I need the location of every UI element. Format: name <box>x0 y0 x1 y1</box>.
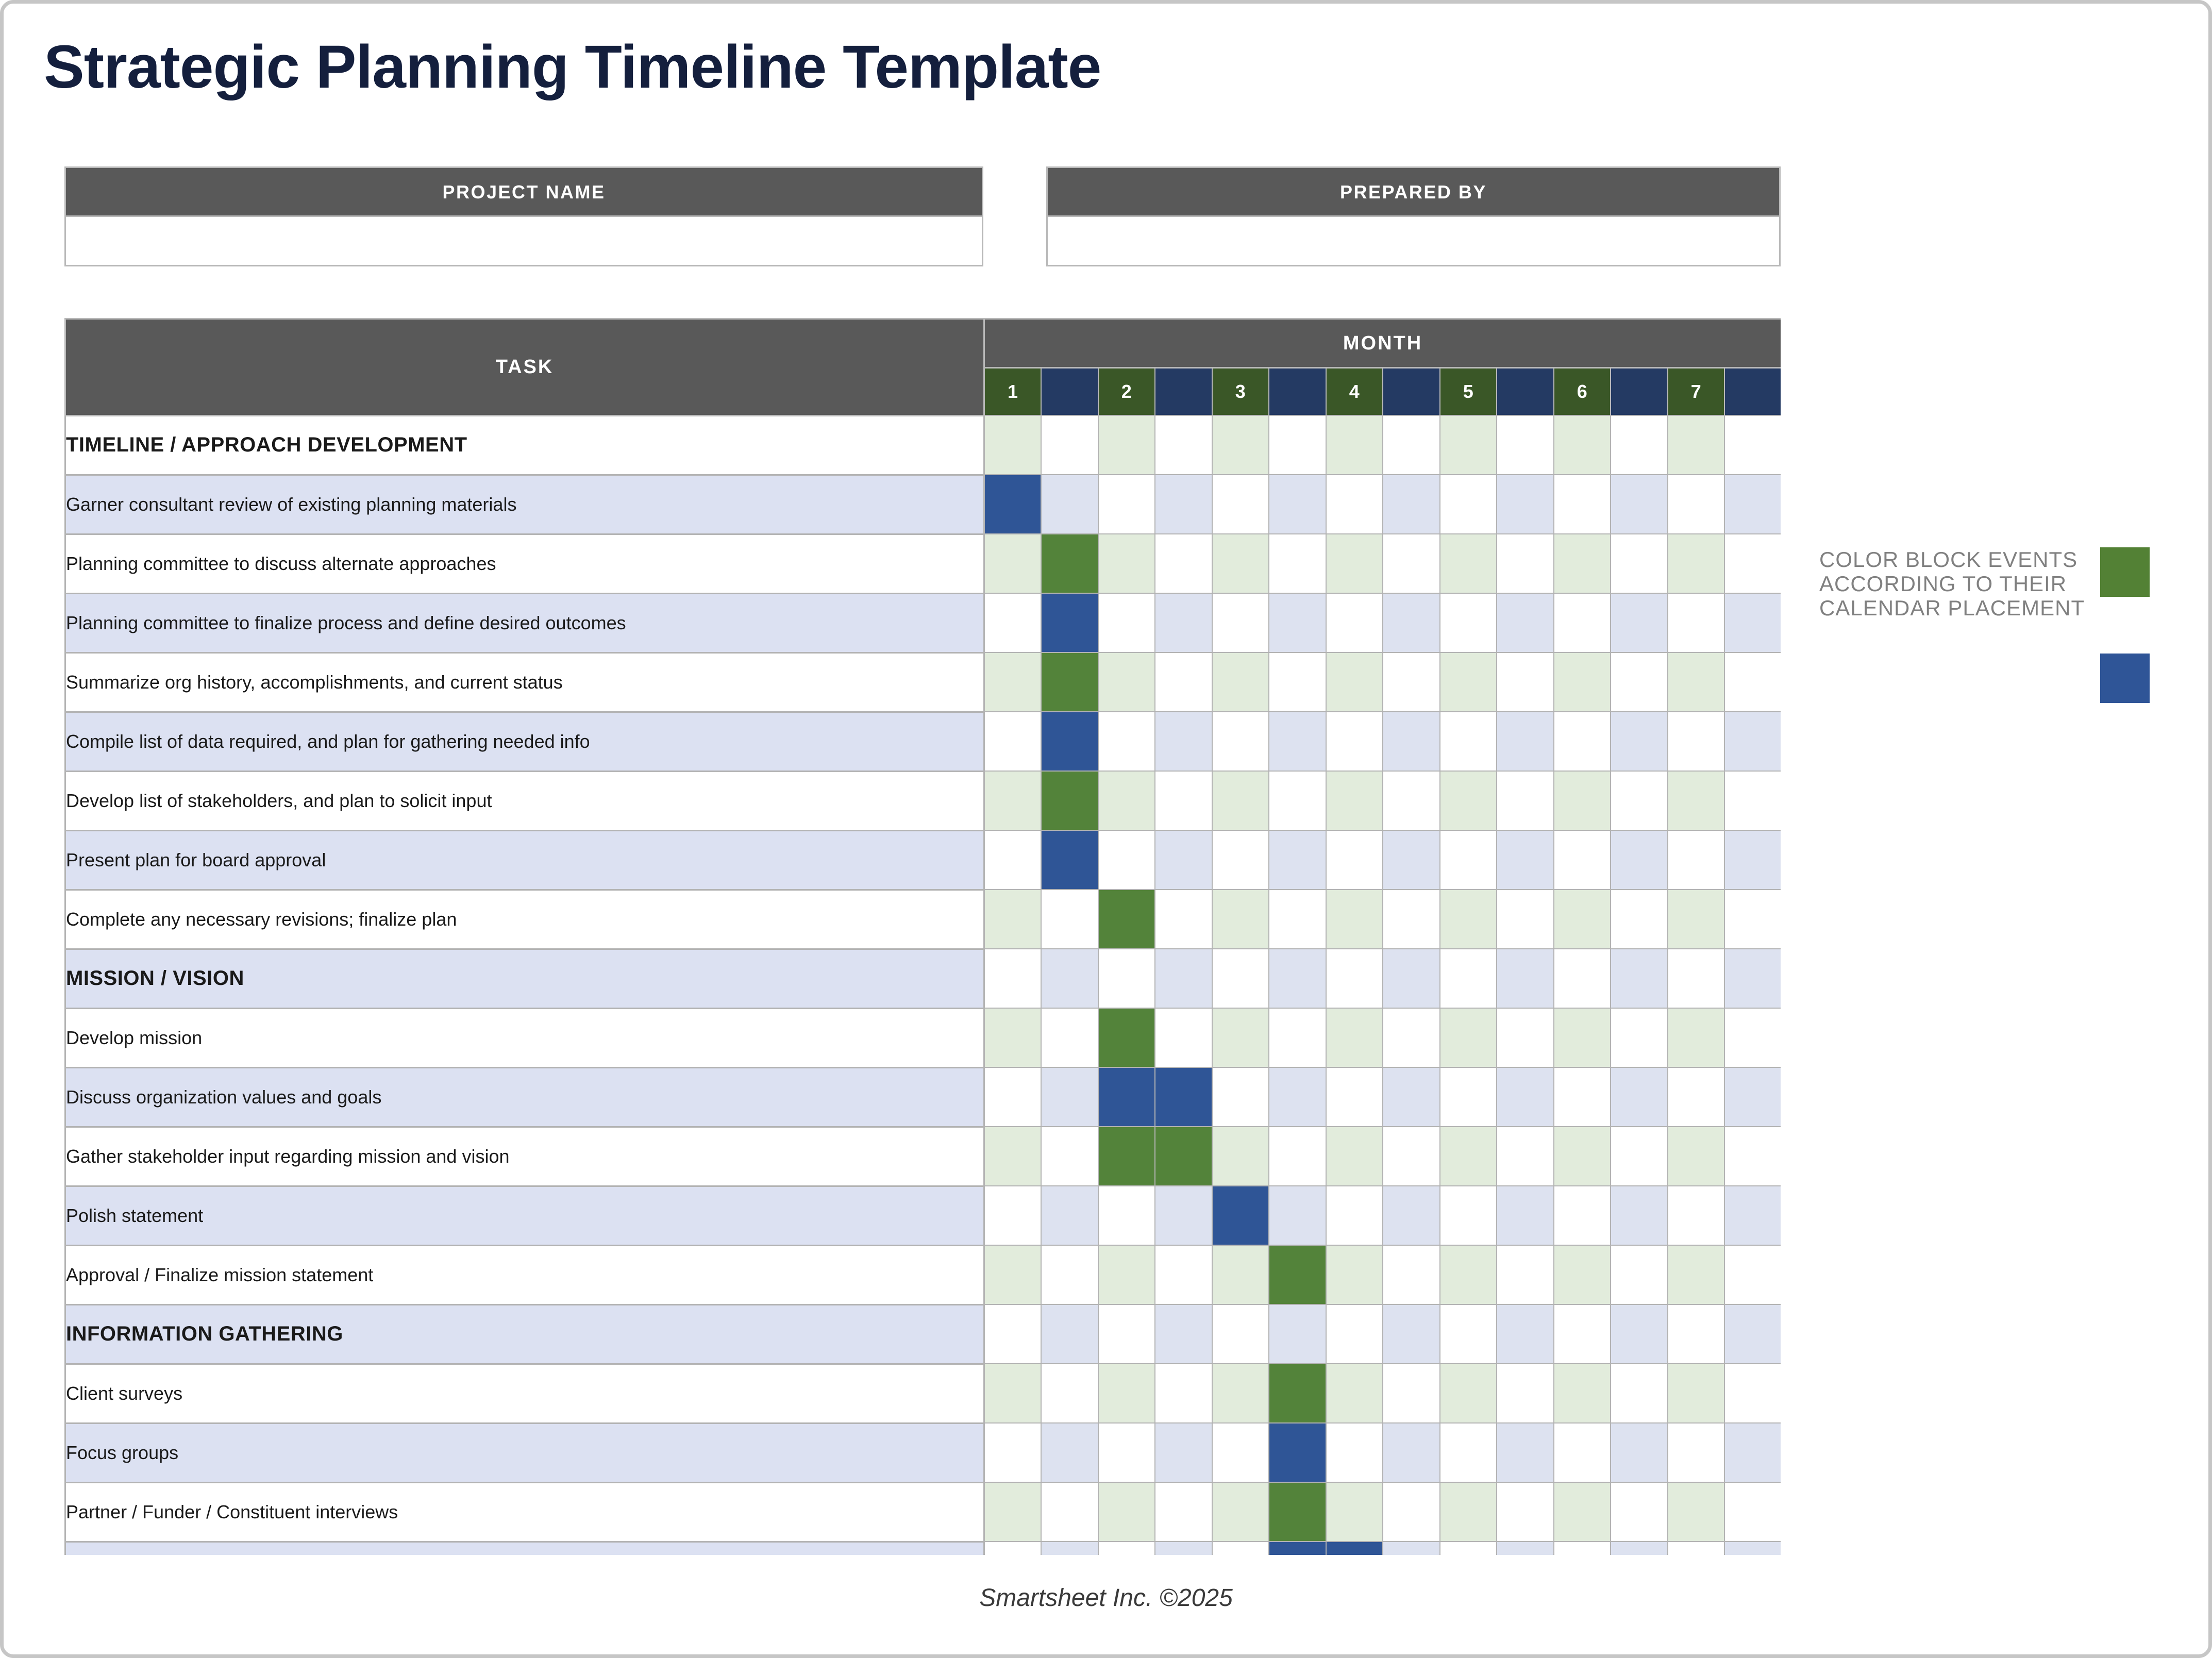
timeline-cell[interactable] <box>1554 1364 1611 1423</box>
timeline-cell[interactable] <box>1554 1067 1611 1127</box>
timeline-cell[interactable] <box>984 1245 1042 1304</box>
timeline-cell[interactable] <box>1440 1304 1497 1364</box>
timeline-cell[interactable] <box>1554 771 1611 830</box>
timeline-cell[interactable] <box>1269 475 1326 534</box>
timeline-cell[interactable] <box>1611 534 1668 593</box>
timeline-cell[interactable] <box>1554 1008 1611 1067</box>
timeline-cell[interactable] <box>1155 1423 1212 1482</box>
timeline-cell[interactable] <box>1668 830 1725 890</box>
timeline-block-green[interactable] <box>1041 771 1098 830</box>
timeline-cell[interactable] <box>1668 1186 1725 1245</box>
timeline-cell[interactable] <box>1668 415 1725 475</box>
timeline-block-blue[interactable] <box>1269 1423 1326 1482</box>
timeline-cell[interactable] <box>1269 771 1326 830</box>
timeline-cell[interactable] <box>1440 1423 1497 1482</box>
timeline-block-green[interactable] <box>1098 1127 1155 1186</box>
timeline-cell[interactable] <box>1212 1542 1269 1555</box>
timeline-cell[interactable] <box>1326 534 1383 593</box>
task-label[interactable]: Polish statement <box>65 1186 984 1245</box>
timeline-cell[interactable] <box>1440 830 1497 890</box>
timeline-cell[interactable] <box>1269 1008 1326 1067</box>
timeline-cell[interactable] <box>1611 1542 1668 1555</box>
timeline-cell[interactable] <box>1269 1304 1326 1364</box>
timeline-cell[interactable] <box>1724 830 1781 890</box>
timeline-cell[interactable] <box>1611 1364 1668 1423</box>
task-label[interactable]: Gather stakeholder input regarding missi… <box>65 1127 984 1186</box>
project-name-input[interactable] <box>64 217 983 266</box>
timeline-cell[interactable] <box>1497 415 1554 475</box>
timeline-cell[interactable] <box>1611 652 1668 712</box>
timeline-block-green[interactable] <box>1155 1127 1212 1186</box>
timeline-cell[interactable] <box>1668 712 1725 771</box>
timeline-block-blue[interactable] <box>1155 1067 1212 1127</box>
timeline-cell[interactable] <box>1724 475 1781 534</box>
timeline-cell[interactable] <box>1724 1364 1781 1423</box>
timeline-cell[interactable] <box>1269 1127 1326 1186</box>
timeline-cell[interactable] <box>1724 1008 1781 1067</box>
timeline-cell[interactable] <box>1041 415 1098 475</box>
timeline-cell[interactable] <box>1383 1067 1440 1127</box>
timeline-cell[interactable] <box>1098 1542 1155 1555</box>
timeline-cell[interactable] <box>1155 1482 1212 1542</box>
timeline-cell[interactable] <box>1269 593 1326 652</box>
timeline-cell[interactable] <box>1611 1482 1668 1542</box>
timeline-cell[interactable] <box>1611 712 1668 771</box>
timeline-cell[interactable] <box>1554 475 1611 534</box>
timeline-cell[interactable] <box>1326 949 1383 1008</box>
timeline-cell[interactable] <box>1326 1364 1383 1423</box>
timeline-cell[interactable] <box>1326 890 1383 949</box>
timeline-cell[interactable] <box>1098 593 1155 652</box>
timeline-cell[interactable] <box>984 1364 1042 1423</box>
timeline-cell[interactable] <box>1497 593 1554 652</box>
timeline-cell[interactable] <box>1440 415 1497 475</box>
timeline-cell[interactable] <box>1497 475 1554 534</box>
timeline-cell[interactable] <box>984 593 1042 652</box>
timeline-cell[interactable] <box>1155 1008 1212 1067</box>
timeline-cell[interactable] <box>984 949 1042 1008</box>
timeline-cell[interactable] <box>1155 1364 1212 1423</box>
timeline-cell[interactable] <box>1668 771 1725 830</box>
timeline-cell[interactable] <box>1724 1423 1781 1482</box>
timeline-cell[interactable] <box>1440 652 1497 712</box>
timeline-cell[interactable] <box>1668 1423 1725 1482</box>
timeline-cell[interactable] <box>1098 712 1155 771</box>
timeline-cell[interactable] <box>1383 652 1440 712</box>
timeline-cell[interactable] <box>1440 949 1497 1008</box>
timeline-cell[interactable] <box>1668 1364 1725 1423</box>
timeline-cell[interactable] <box>1269 890 1326 949</box>
task-label[interactable]: Client surveys <box>65 1364 984 1423</box>
timeline-cell[interactable] <box>1041 1067 1098 1127</box>
timeline-cell[interactable] <box>984 830 1042 890</box>
timeline-cell[interactable] <box>1440 534 1497 593</box>
timeline-cell[interactable] <box>1383 1127 1440 1186</box>
task-label[interactable]: Focus groups <box>65 1423 984 1482</box>
timeline-block-blue[interactable] <box>1041 830 1098 890</box>
timeline-cell[interactable] <box>984 1304 1042 1364</box>
timeline-cell[interactable] <box>1041 949 1098 1008</box>
timeline-cell[interactable] <box>1326 1008 1383 1067</box>
timeline-cell[interactable] <box>1497 1482 1554 1542</box>
timeline-cell[interactable] <box>1554 534 1611 593</box>
timeline-cell[interactable] <box>1724 712 1781 771</box>
timeline-cell[interactable] <box>1041 1482 1098 1542</box>
task-label[interactable]: Present plan for board approval <box>65 830 984 890</box>
timeline-cell[interactable] <box>1155 949 1212 1008</box>
timeline-cell[interactable] <box>984 771 1042 830</box>
timeline-cell[interactable] <box>1269 830 1326 890</box>
timeline-cell[interactable] <box>1212 830 1269 890</box>
timeline-cell[interactable] <box>1269 1186 1326 1245</box>
timeline-cell[interactable] <box>1326 1423 1383 1482</box>
task-label[interactable]: Complete any necessary revisions; finali… <box>65 890 984 949</box>
timeline-cell[interactable] <box>1098 771 1155 830</box>
timeline-cell[interactable] <box>1668 1542 1725 1555</box>
timeline-cell[interactable] <box>1383 1423 1440 1482</box>
timeline-cell[interactable] <box>1497 1542 1554 1555</box>
timeline-cell[interactable] <box>1440 475 1497 534</box>
timeline-cell[interactable] <box>1611 1186 1668 1245</box>
timeline-cell[interactable] <box>1155 830 1212 890</box>
timeline-cell[interactable] <box>1724 652 1781 712</box>
timeline-cell[interactable] <box>1497 1127 1554 1186</box>
timeline-cell[interactable] <box>1326 830 1383 890</box>
timeline-cell[interactable] <box>1098 1482 1155 1542</box>
timeline-cell[interactable] <box>1155 1542 1212 1555</box>
timeline-cell[interactable] <box>1724 1482 1781 1542</box>
timeline-cell[interactable] <box>1497 890 1554 949</box>
timeline-cell[interactable] <box>1440 593 1497 652</box>
timeline-cell[interactable] <box>1440 771 1497 830</box>
timeline-cell[interactable] <box>1724 771 1781 830</box>
timeline-cell[interactable] <box>1668 1008 1725 1067</box>
timeline-cell[interactable] <box>1554 1245 1611 1304</box>
timeline-cell[interactable] <box>1326 1482 1383 1542</box>
timeline-cell[interactable] <box>1212 593 1269 652</box>
timeline-cell[interactable] <box>1383 1245 1440 1304</box>
timeline-cell[interactable] <box>1326 415 1383 475</box>
timeline-cell[interactable] <box>1554 1127 1611 1186</box>
timeline-cell[interactable] <box>1155 1245 1212 1304</box>
timeline-block-blue[interactable] <box>984 475 1042 534</box>
timeline-cell[interactable] <box>1098 1245 1155 1304</box>
timeline-cell[interactable] <box>1212 1482 1269 1542</box>
timeline-cell[interactable] <box>1383 1304 1440 1364</box>
timeline-block-blue[interactable] <box>1041 593 1098 652</box>
timeline-cell[interactable] <box>1041 1008 1098 1067</box>
timeline-cell[interactable] <box>1326 475 1383 534</box>
timeline-cell[interactable] <box>1212 890 1269 949</box>
timeline-cell[interactable] <box>1383 771 1440 830</box>
timeline-cell[interactable] <box>1098 1186 1155 1245</box>
timeline-cell[interactable] <box>984 1482 1042 1542</box>
timeline-cell[interactable] <box>1497 830 1554 890</box>
timeline-cell[interactable] <box>1724 593 1781 652</box>
timeline-cell[interactable] <box>1611 1008 1668 1067</box>
timeline-cell[interactable] <box>1668 890 1725 949</box>
timeline-cell[interactable] <box>1155 475 1212 534</box>
timeline-cell[interactable] <box>1383 593 1440 652</box>
timeline-cell[interactable] <box>1668 1245 1725 1304</box>
timeline-cell[interactable] <box>1155 652 1212 712</box>
timeline-cell[interactable] <box>984 1008 1042 1067</box>
timeline-cell[interactable] <box>984 652 1042 712</box>
timeline-block-blue[interactable] <box>1041 712 1098 771</box>
timeline-cell[interactable] <box>1554 593 1611 652</box>
timeline-cell[interactable] <box>1554 1482 1611 1542</box>
timeline-block-blue[interactable] <box>1326 1542 1383 1555</box>
timeline-cell[interactable] <box>1383 415 1440 475</box>
timeline-cell[interactable] <box>984 534 1042 593</box>
timeline-cell[interactable] <box>1326 771 1383 830</box>
timeline-cell[interactable] <box>984 1186 1042 1245</box>
timeline-cell[interactable] <box>1326 1186 1383 1245</box>
timeline-cell[interactable] <box>1041 1245 1098 1304</box>
timeline-cell[interactable] <box>1497 712 1554 771</box>
timeline-cell[interactable] <box>1611 890 1668 949</box>
timeline-cell[interactable] <box>1497 1008 1554 1067</box>
timeline-cell[interactable] <box>1554 1186 1611 1245</box>
timeline-cell[interactable] <box>1611 1423 1668 1482</box>
task-label[interactable]: Partner / Funder / Constituent interview… <box>65 1482 984 1542</box>
timeline-cell[interactable] <box>1041 1127 1098 1186</box>
timeline-cell[interactable] <box>1497 1067 1554 1127</box>
timeline-cell[interactable] <box>1326 1127 1383 1186</box>
task-label[interactable]: Garner consultant review of existing pla… <box>65 475 984 534</box>
timeline-cell[interactable] <box>1668 475 1725 534</box>
timeline-cell[interactable] <box>1212 712 1269 771</box>
timeline-cell[interactable] <box>1383 534 1440 593</box>
timeline-cell[interactable] <box>1326 1304 1383 1364</box>
timeline-cell[interactable] <box>1155 890 1212 949</box>
timeline-cell[interactable] <box>1440 1364 1497 1423</box>
timeline-cell[interactable] <box>1497 1245 1554 1304</box>
timeline-cell[interactable] <box>1668 1304 1725 1364</box>
section-label[interactable]: INFORMATION GATHERING <box>65 1304 984 1364</box>
task-label[interactable]: Compile list of data required, and plan … <box>65 712 984 771</box>
timeline-cell[interactable] <box>984 1542 1042 1555</box>
timeline-cell[interactable] <box>1440 1245 1497 1304</box>
task-label[interactable]: Approval / Finalize mission statement <box>65 1245 984 1304</box>
timeline-cell[interactable] <box>1098 475 1155 534</box>
timeline-cell[interactable] <box>1497 1423 1554 1482</box>
timeline-cell[interactable] <box>1554 1542 1611 1555</box>
timeline-cell[interactable] <box>1668 593 1725 652</box>
timeline-cell[interactable] <box>1155 593 1212 652</box>
timeline-cell[interactable] <box>1383 949 1440 1008</box>
timeline-cell[interactable] <box>1041 1423 1098 1482</box>
timeline-cell[interactable] <box>1041 1186 1098 1245</box>
timeline-cell[interactable] <box>1497 652 1554 712</box>
timeline-cell[interactable] <box>1724 890 1781 949</box>
timeline-cell[interactable] <box>1611 771 1668 830</box>
timeline-cell[interactable] <box>1326 593 1383 652</box>
timeline-block-blue[interactable] <box>1269 1542 1326 1555</box>
timeline-cell[interactable] <box>1724 1245 1781 1304</box>
section-label[interactable]: TIMELINE / APPROACH DEVELOPMENT <box>65 415 984 475</box>
task-label[interactable]: Financial data prep <box>65 1542 984 1555</box>
task-label[interactable]: Discuss organization values and goals <box>65 1067 984 1127</box>
timeline-block-green[interactable] <box>1041 534 1098 593</box>
prepared-by-input[interactable] <box>1046 217 1781 266</box>
timeline-cell[interactable] <box>1668 1067 1725 1127</box>
timeline-cell[interactable] <box>1326 652 1383 712</box>
timeline-cell[interactable] <box>1326 1245 1383 1304</box>
timeline-cell[interactable] <box>1554 652 1611 712</box>
timeline-cell[interactable] <box>984 415 1042 475</box>
timeline-cell[interactable] <box>1724 1542 1781 1555</box>
timeline-cell[interactable] <box>1098 830 1155 890</box>
timeline-cell[interactable] <box>1383 475 1440 534</box>
timeline-cell[interactable] <box>1155 1186 1212 1245</box>
timeline-cell[interactable] <box>1554 712 1611 771</box>
timeline-cell[interactable] <box>1098 1364 1155 1423</box>
timeline-cell[interactable] <box>1724 415 1781 475</box>
timeline-cell[interactable] <box>1497 534 1554 593</box>
timeline-cell[interactable] <box>1269 415 1326 475</box>
timeline-cell[interactable] <box>1383 830 1440 890</box>
timeline-cell[interactable] <box>1440 1127 1497 1186</box>
timeline-cell[interactable] <box>984 890 1042 949</box>
timeline-cell[interactable] <box>1098 534 1155 593</box>
task-label[interactable]: Planning committee to finalize process a… <box>65 593 984 652</box>
timeline-cell[interactable] <box>1383 712 1440 771</box>
timeline-cell[interactable] <box>1554 1423 1611 1482</box>
task-label[interactable]: Summarize org history, accomplishments, … <box>65 652 984 712</box>
timeline-cell[interactable] <box>1668 534 1725 593</box>
timeline-cell[interactable] <box>1383 1008 1440 1067</box>
timeline-cell[interactable] <box>1041 890 1098 949</box>
timeline-cell[interactable] <box>1212 771 1269 830</box>
timeline-cell[interactable] <box>1497 1364 1554 1423</box>
timeline-cell[interactable] <box>1611 475 1668 534</box>
timeline-cell[interactable] <box>1212 1245 1269 1304</box>
timeline-cell[interactable] <box>1554 415 1611 475</box>
timeline-cell[interactable] <box>1611 1245 1668 1304</box>
timeline-cell[interactable] <box>1724 1304 1781 1364</box>
timeline-cell[interactable] <box>1611 1067 1668 1127</box>
timeline-cell[interactable] <box>1155 1304 1212 1364</box>
timeline-cell[interactable] <box>1269 1067 1326 1127</box>
timeline-cell[interactable] <box>984 1423 1042 1482</box>
timeline-cell[interactable] <box>1098 1423 1155 1482</box>
timeline-cell[interactable] <box>1212 652 1269 712</box>
timeline-cell[interactable] <box>1554 890 1611 949</box>
timeline-cell[interactable] <box>1383 890 1440 949</box>
timeline-cell[interactable] <box>1611 830 1668 890</box>
timeline-cell[interactable] <box>1554 830 1611 890</box>
timeline-block-green[interactable] <box>1041 652 1098 712</box>
timeline-cell[interactable] <box>1440 712 1497 771</box>
timeline-cell[interactable] <box>1497 1304 1554 1364</box>
timeline-block-blue[interactable] <box>1212 1186 1269 1245</box>
timeline-cell[interactable] <box>1724 1127 1781 1186</box>
timeline-block-green[interactable] <box>1098 1008 1155 1067</box>
timeline-cell[interactable] <box>1440 1542 1497 1555</box>
task-label[interactable]: Develop list of stakeholders, and plan t… <box>65 771 984 830</box>
timeline-cell[interactable] <box>984 1127 1042 1186</box>
timeline-cell[interactable] <box>1041 1304 1098 1364</box>
timeline-cell[interactable] <box>1497 949 1554 1008</box>
timeline-cell[interactable] <box>1269 534 1326 593</box>
timeline-cell[interactable] <box>1098 949 1155 1008</box>
timeline-cell[interactable] <box>1269 712 1326 771</box>
timeline-cell[interactable] <box>1212 415 1269 475</box>
timeline-cell[interactable] <box>1724 949 1781 1008</box>
timeline-cell[interactable] <box>1611 593 1668 652</box>
timeline-cell[interactable] <box>1668 1482 1725 1542</box>
timeline-block-green[interactable] <box>1269 1364 1326 1423</box>
timeline-cell[interactable] <box>984 1067 1042 1127</box>
timeline-cell[interactable] <box>1041 475 1098 534</box>
timeline-cell[interactable] <box>1155 534 1212 593</box>
timeline-cell[interactable] <box>1383 1482 1440 1542</box>
timeline-cell[interactable] <box>1212 475 1269 534</box>
timeline-cell[interactable] <box>1155 415 1212 475</box>
timeline-cell[interactable] <box>1383 1186 1440 1245</box>
timeline-cell[interactable] <box>1611 1127 1668 1186</box>
timeline-cell[interactable] <box>1212 1008 1269 1067</box>
timeline-cell[interactable] <box>1611 1304 1668 1364</box>
timeline-cell[interactable] <box>1326 712 1383 771</box>
timeline-cell[interactable] <box>1668 949 1725 1008</box>
timeline-cell[interactable] <box>1440 1008 1497 1067</box>
timeline-block-green[interactable] <box>1269 1245 1326 1304</box>
task-label[interactable]: Planning committee to discuss alternate … <box>65 534 984 593</box>
timeline-cell[interactable] <box>1098 652 1155 712</box>
timeline-cell[interactable] <box>1440 890 1497 949</box>
timeline-cell[interactable] <box>1497 771 1554 830</box>
timeline-cell[interactable] <box>1554 949 1611 1008</box>
timeline-block-blue[interactable] <box>1098 1067 1155 1127</box>
timeline-cell[interactable] <box>1383 1364 1440 1423</box>
timeline-cell[interactable] <box>1668 652 1725 712</box>
timeline-block-green[interactable] <box>1269 1482 1326 1542</box>
timeline-cell[interactable] <box>1098 1304 1155 1364</box>
timeline-cell[interactable] <box>1554 1304 1611 1364</box>
timeline-cell[interactable] <box>1269 949 1326 1008</box>
task-label[interactable]: Develop mission <box>65 1008 984 1067</box>
timeline-cell[interactable] <box>1611 415 1668 475</box>
timeline-cell[interactable] <box>1668 1127 1725 1186</box>
timeline-cell[interactable] <box>1155 771 1212 830</box>
timeline-cell[interactable] <box>1212 534 1269 593</box>
timeline-cell[interactable] <box>1212 1423 1269 1482</box>
timeline-cell[interactable] <box>1098 415 1155 475</box>
timeline-cell[interactable] <box>1383 1542 1440 1555</box>
timeline-cell[interactable] <box>1212 1127 1269 1186</box>
timeline-cell[interactable] <box>984 712 1042 771</box>
timeline-cell[interactable] <box>1041 1364 1098 1423</box>
timeline-cell[interactable] <box>1326 1067 1383 1127</box>
timeline-cell[interactable] <box>1212 1304 1269 1364</box>
timeline-cell[interactable] <box>1269 652 1326 712</box>
timeline-cell[interactable] <box>1440 1482 1497 1542</box>
timeline-cell[interactable] <box>1212 1364 1269 1423</box>
timeline-cell[interactable] <box>1440 1067 1497 1127</box>
timeline-cell[interactable] <box>1212 949 1269 1008</box>
timeline-cell[interactable] <box>1041 1542 1098 1555</box>
timeline-block-green[interactable] <box>1098 890 1155 949</box>
timeline-cell[interactable] <box>1497 1186 1554 1245</box>
timeline-cell[interactable] <box>1724 1067 1781 1127</box>
timeline-cell[interactable] <box>1155 712 1212 771</box>
timeline-cell[interactable] <box>1440 1186 1497 1245</box>
section-label[interactable]: MISSION / VISION <box>65 949 984 1008</box>
timeline-cell[interactable] <box>1212 1067 1269 1127</box>
timeline-cell[interactable] <box>1724 534 1781 593</box>
